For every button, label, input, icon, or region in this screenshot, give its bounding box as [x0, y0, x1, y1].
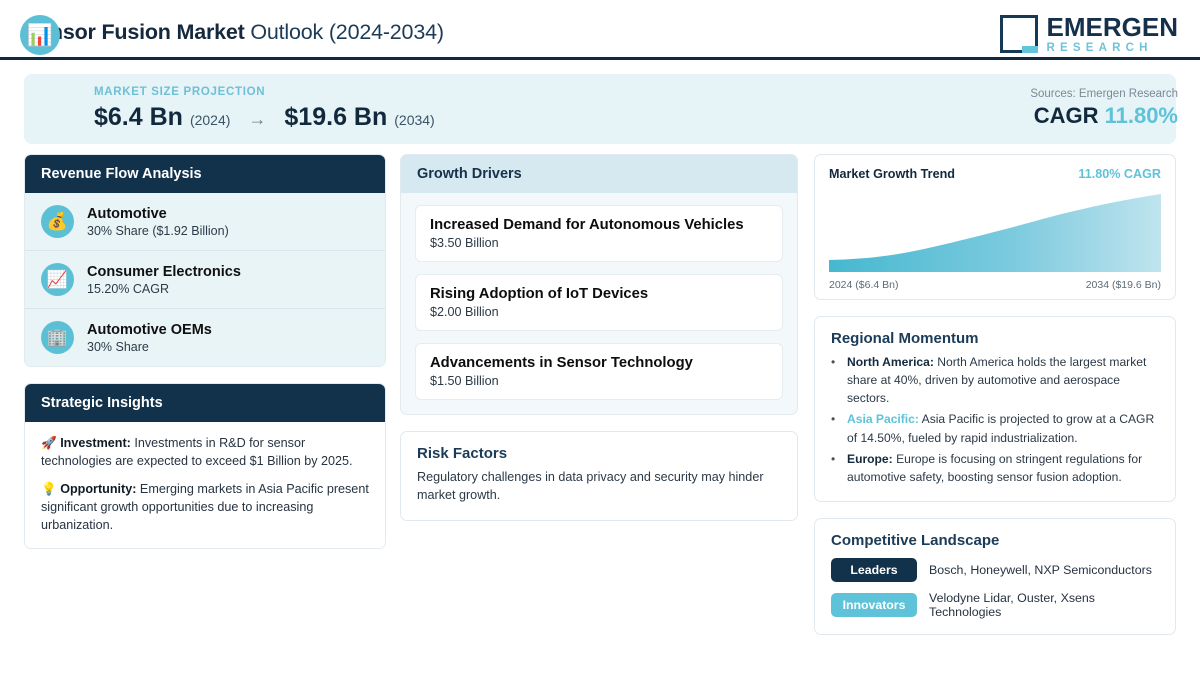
region-text-wrap: Asia Pacific: Asia Pacific is projected … [847, 410, 1159, 446]
driver-title: Increased Demand for Autonomous Vehicles [430, 217, 768, 233]
logo-wordmark: EMERGEN RESEARCH [1047, 14, 1178, 55]
regional-momentum-title: Regional Momentum [831, 330, 1159, 347]
page-title-light: Outlook (2024-2034) [245, 20, 444, 44]
trend-axis: 2024 ($6.4 Bn) 2034 ($19.6 Bn) [829, 279, 1161, 291]
arrow-right-icon: → [248, 109, 266, 130]
growth-drivers-body: Increased Demand for Autonomous Vehicles… [401, 193, 797, 414]
banner-values: $6.4 Bn (2024) → $19.6 Bn (2034) [94, 103, 435, 132]
left-column: Revenue Flow Analysis 💰 Automotive 30% S… [24, 154, 386, 565]
trend-title: Market Growth Trend [829, 167, 955, 181]
banner-sources: Sources: Emergen Research [1030, 88, 1178, 100]
competitive-landscape-card: Competitive Landscape Leaders Bosch, Hon… [814, 518, 1176, 635]
growth-drivers-title: Growth Drivers [401, 155, 797, 193]
bullet-icon: • [831, 410, 839, 446]
chart-increasing-icon: 📈 [41, 263, 74, 296]
banner-cagr-label: CAGR [1034, 103, 1099, 128]
area-chart [829, 190, 1161, 272]
list-item[interactable]: 📈 Consumer Electronics 15.20% CAGR [25, 251, 385, 309]
list-item[interactable]: 🏢 Automotive OEMs 30% Share [25, 309, 385, 366]
lightbulb-icon: 💡 [41, 482, 57, 496]
driver-card[interactable]: Advancements in Sensor Technology $1.50 … [415, 343, 783, 400]
banner-end-year: (2034) [394, 112, 434, 128]
banner-label: MARKET SIZE PROJECTION [94, 86, 265, 98]
list-item-detail: 30% Share ($1.92 Billion) [87, 224, 229, 238]
region-text-wrap: Europe: Europe is focusing on stringent … [847, 450, 1159, 486]
trend-axis-end: 2034 ($19.6 Bn) [1086, 279, 1161, 291]
risk-factors-card: Risk Factors Regulatory challenges in da… [400, 431, 798, 521]
logo-sub-text: RESEARCH [1047, 43, 1178, 55]
innovators-companies: Velodyne Lidar, Ouster, Xsens Technologi… [929, 591, 1159, 619]
bar-chart-icon: 📊 [20, 15, 60, 55]
list-item-name: Consumer Electronics [87, 264, 241, 280]
driver-card[interactable]: Rising Adoption of IoT Devices $2.00 Bil… [415, 274, 783, 331]
table-row: Innovators Velodyne Lidar, Ouster, Xsens… [831, 591, 1159, 619]
table-row: Leaders Bosch, Honeywell, NXP Semiconduc… [831, 558, 1159, 582]
square-outline-icon [1000, 15, 1038, 53]
regional-momentum-card: Regional Momentum • North America: North… [814, 316, 1176, 502]
right-column: Market Growth Trend 11.80% CAGR 2024 ($6… [814, 154, 1176, 651]
list-item: • North America: North America holds the… [831, 353, 1159, 407]
list-item-name: Automotive OEMs [87, 322, 212, 338]
insight-item: 🚀 Investment: Investments in R&D for sen… [41, 434, 369, 471]
driver-value: $3.50 Billion [430, 236, 768, 250]
revenue-flow-panel: Revenue Flow Analysis 💰 Automotive 30% S… [24, 154, 386, 367]
risk-factors-title: Risk Factors [417, 445, 781, 462]
growth-drivers-panel: Growth Drivers Increased Demand for Auto… [400, 154, 798, 415]
bullet-icon: • [831, 450, 839, 486]
status-badge-leaders: Leaders [831, 558, 917, 582]
list-item[interactable]: 💰 Automotive 30% Share ($1.92 Billion) [25, 193, 385, 251]
driver-value: $2.00 Billion [430, 305, 768, 319]
logo-main-text: EMERGEN [1047, 14, 1178, 40]
strategic-insights-panel: Strategic Insights 🚀 Investment: Investm… [24, 383, 386, 549]
strategic-insights-title: Strategic Insights [25, 384, 385, 422]
infographic-page: Sensor Fusion Market Outlook (2024-2034)… [0, 0, 1200, 700]
trend-cagr-badge: 11.80% CAGR [1078, 167, 1161, 181]
status-badge-innovators: Innovators [831, 593, 917, 617]
list-item-detail: 30% Share [87, 340, 212, 354]
region-name: North America: [847, 355, 934, 369]
revenue-flow-title: Revenue Flow Analysis [25, 155, 385, 193]
list-item-text: Automotive 30% Share ($1.92 Billion) [87, 206, 229, 238]
strategic-insights-body: 🚀 Investment: Investments in R&D for sen… [25, 422, 385, 548]
trend-header: Market Growth Trend 11.80% CAGR [829, 167, 1161, 181]
competitive-landscape-title: Competitive Landscape [831, 532, 1159, 549]
region-name: Europe: [847, 452, 893, 466]
page-header: Sensor Fusion Market Outlook (2024-2034)… [0, 0, 1200, 58]
driver-value: $1.50 Billion [430, 374, 768, 388]
area-chart-series [829, 194, 1161, 272]
middle-column: Growth Drivers Increased Demand for Auto… [400, 154, 798, 537]
driver-title: Rising Adoption of IoT Devices [430, 286, 768, 302]
banner-start-value: $6.4 Bn [94, 103, 183, 132]
trend-axis-start: 2024 ($6.4 Bn) [829, 279, 898, 291]
insight-label: Opportunity: [60, 482, 136, 496]
region-text-wrap: North America: North America holds the l… [847, 353, 1159, 407]
risk-factors-text: Regulatory challenges in data privacy an… [417, 468, 781, 505]
banner-end-value: $19.6 Bn [284, 103, 387, 132]
brand-logo: EMERGEN RESEARCH [1000, 14, 1178, 55]
header-divider [0, 57, 1200, 60]
list-item-text: Consumer Electronics 15.20% CAGR [87, 264, 241, 296]
driver-card[interactable]: Increased Demand for Autonomous Vehicles… [415, 205, 783, 262]
banner-cagr-value: 11.80% [1105, 103, 1178, 128]
banner-start-year: (2024) [190, 112, 230, 128]
page-title: Sensor Fusion Market Outlook (2024-2034) [24, 20, 444, 45]
list-item: • Asia Pacific: Asia Pacific is projecte… [831, 410, 1159, 446]
market-growth-trend-card: Market Growth Trend 11.80% CAGR 2024 ($6… [814, 154, 1176, 300]
office-building-icon: 🏢 [41, 321, 74, 354]
banner-cagr: CAGR 11.80% [1034, 103, 1178, 129]
list-item: • Europe: Europe is focusing on stringen… [831, 450, 1159, 486]
insight-item: 💡 Opportunity: Emerging markets in Asia … [41, 480, 369, 535]
list-item-text: Automotive OEMs 30% Share [87, 322, 212, 354]
rocket-icon: 🚀 [41, 436, 57, 450]
list-item-name: Automotive [87, 206, 229, 222]
driver-title: Advancements in Sensor Technology [430, 355, 768, 371]
list-item-detail: 15.20% CAGR [87, 282, 241, 296]
money-bag-icon: 💰 [41, 205, 74, 238]
revenue-flow-body: 💰 Automotive 30% Share ($1.92 Billion) 📈… [25, 193, 385, 366]
insight-label: Investment: [60, 436, 131, 450]
leaders-companies: Bosch, Honeywell, NXP Semiconductors [929, 563, 1152, 577]
region-name: Asia Pacific: [847, 412, 919, 426]
bullet-icon: • [831, 353, 839, 407]
